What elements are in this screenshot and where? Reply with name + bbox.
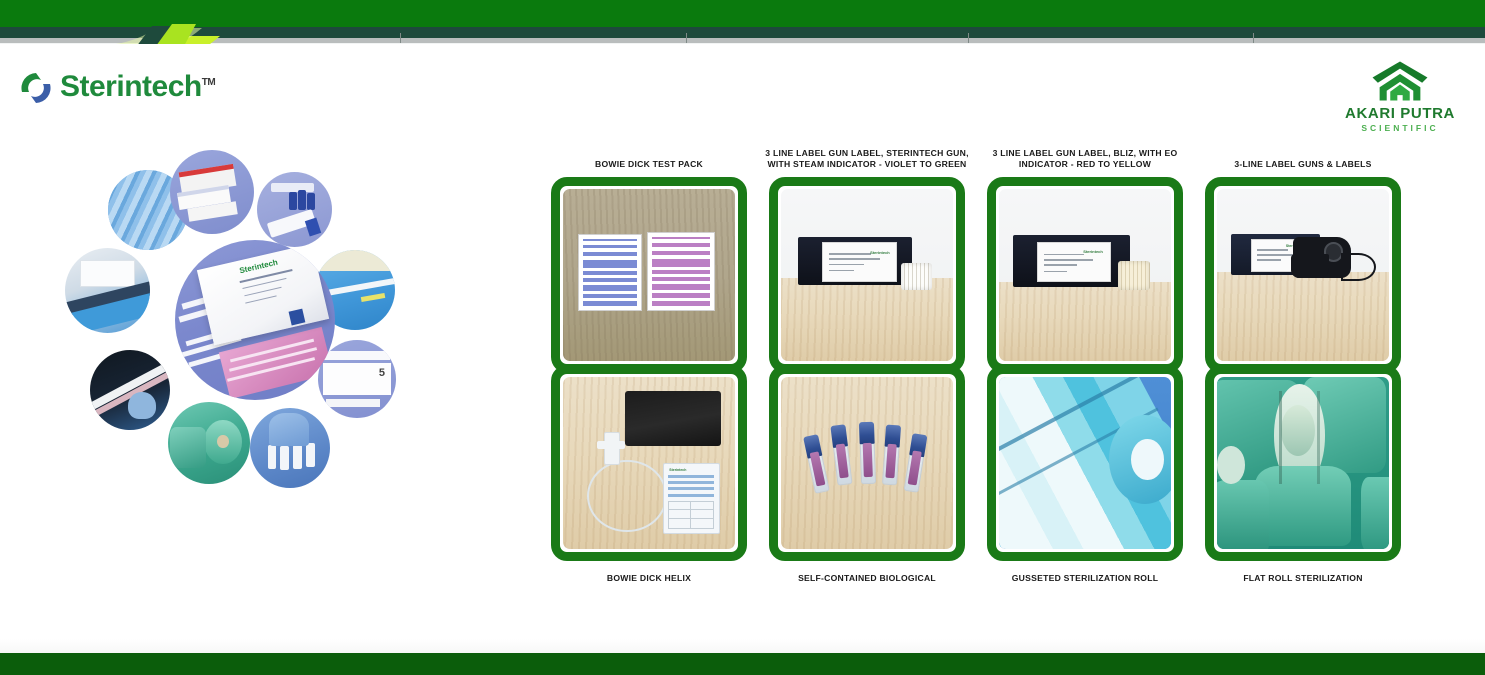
product-frame: Sterintech (769, 177, 965, 373)
bowie-dick-test-pack-photo (563, 189, 735, 361)
collage-bubble-white-box-on-blue-wrap (65, 248, 150, 333)
akari-putra-name: AKARI PUTRA (1335, 106, 1465, 122)
product-card-bliz-gun-label[interactable]: 3 LINE LABEL GUN LABEL, BLIZ, WITH EO IN… (976, 145, 1194, 373)
akari-putra-house-chevron-icon (1335, 58, 1465, 104)
banner-tick-mark (1253, 33, 1254, 43)
product-card-label-guns-and-labels[interactable]: 3-LINE LABEL GUNS & LABELS Sterintech (1194, 145, 1412, 373)
product-caption: BOWIE DICK HELIX (540, 573, 758, 585)
flat-roll-sterilization-photo (1217, 377, 1389, 549)
banner-tick-mark (400, 33, 401, 43)
sterintech-gun-label-steam-indicator-photo: Sterintech (781, 189, 953, 361)
product-card-flat-roll-sterilization[interactable]: FLAT ROLL STERILIZATION (1194, 365, 1412, 585)
product-caption: 3 LINE LABEL GUN LABEL, BLIZ, WITH EO IN… (976, 145, 1194, 177)
product-card-bowie-dick-test-pack[interactable]: BOWIE DICK TEST PACK (540, 145, 758, 373)
product-frame: Sterintech (551, 365, 747, 561)
product-frame (769, 365, 965, 561)
product-frame: Sterintech (987, 177, 1183, 373)
three-line-label-guns-and-labels-photo: Sterintech (1217, 189, 1389, 361)
product-card-bowie-dick-helix[interactable]: Sterintech BOWIE DICK HELIX (540, 365, 758, 585)
collage-bubble-blue-vials-and-pouch (257, 172, 332, 247)
banner-swoosh-ribbon-icon (0, 22, 310, 44)
brand-name-text: Sterintech (60, 70, 202, 103)
product-caption: FLAT ROLL STERILIZATION (1194, 573, 1412, 585)
akari-putra-logo: AKARI PUTRA SCIENTIFIC (1335, 58, 1465, 133)
product-caption: 3-LINE LABEL GUNS & LABELS (1194, 145, 1412, 177)
product-grid: BOWIE DICK TEST PACK (540, 145, 1420, 645)
collage-bubble-black-helix-cloth (90, 350, 170, 430)
self-contained-biological-indicator-photo (781, 377, 953, 549)
sterintech-swirl-icon (18, 70, 52, 104)
banner-tick-mark (686, 33, 687, 43)
top-green-banner (0, 0, 1485, 44)
bottom-green-bar (0, 653, 1485, 675)
product-frame (1205, 365, 1401, 561)
collage-bubble-green-sterilization-rolls (168, 402, 250, 484)
product-frame (987, 365, 1183, 561)
footer-fade (0, 639, 1485, 653)
bliz-gun-label-eo-indicator-photo: Sterintech (999, 189, 1171, 361)
sterintech-product-collage: 5 (60, 150, 520, 580)
gusseted-sterilization-roll-photo (999, 377, 1171, 549)
collage-bubble-blue-strip-indicators (250, 408, 330, 488)
akari-putra-subtitle: SCIENTIFIC (1335, 123, 1465, 133)
collage-center-bowie-dick-test-pack: Sterintech (175, 240, 335, 400)
product-caption: 3 LINE LABEL GUN LABEL, STERINTECH GUN, … (758, 145, 976, 177)
collage-bubble-red-label-boxes (170, 150, 254, 234)
product-card-self-contained-biological[interactable]: SELF-CONTAINED BIOLOGICAL (758, 365, 976, 585)
product-caption: BOWIE DICK TEST PACK (540, 145, 758, 177)
product-frame (551, 177, 747, 373)
product-caption: SELF-CONTAINED BIOLOGICAL (758, 573, 976, 585)
bowie-dick-helix-photo: Sterintech (563, 377, 735, 549)
trademark-symbol: TM (202, 77, 215, 88)
product-caption: GUSSETED STERILIZATION ROLL (976, 573, 1194, 585)
product-frame: Sterintech (1205, 177, 1401, 373)
sterintech-logo: SterintechTM (18, 70, 215, 104)
sterintech-wordmark: SterintechTM (60, 72, 215, 102)
product-card-gusseted-sterilization-roll[interactable]: GUSSETED STERILIZATION ROLL (976, 365, 1194, 585)
product-card-sterintech-gun-label[interactable]: 3 LINE LABEL GUN LABEL, STERINTECH GUN, … (758, 145, 976, 373)
banner-tick-mark (968, 33, 969, 43)
